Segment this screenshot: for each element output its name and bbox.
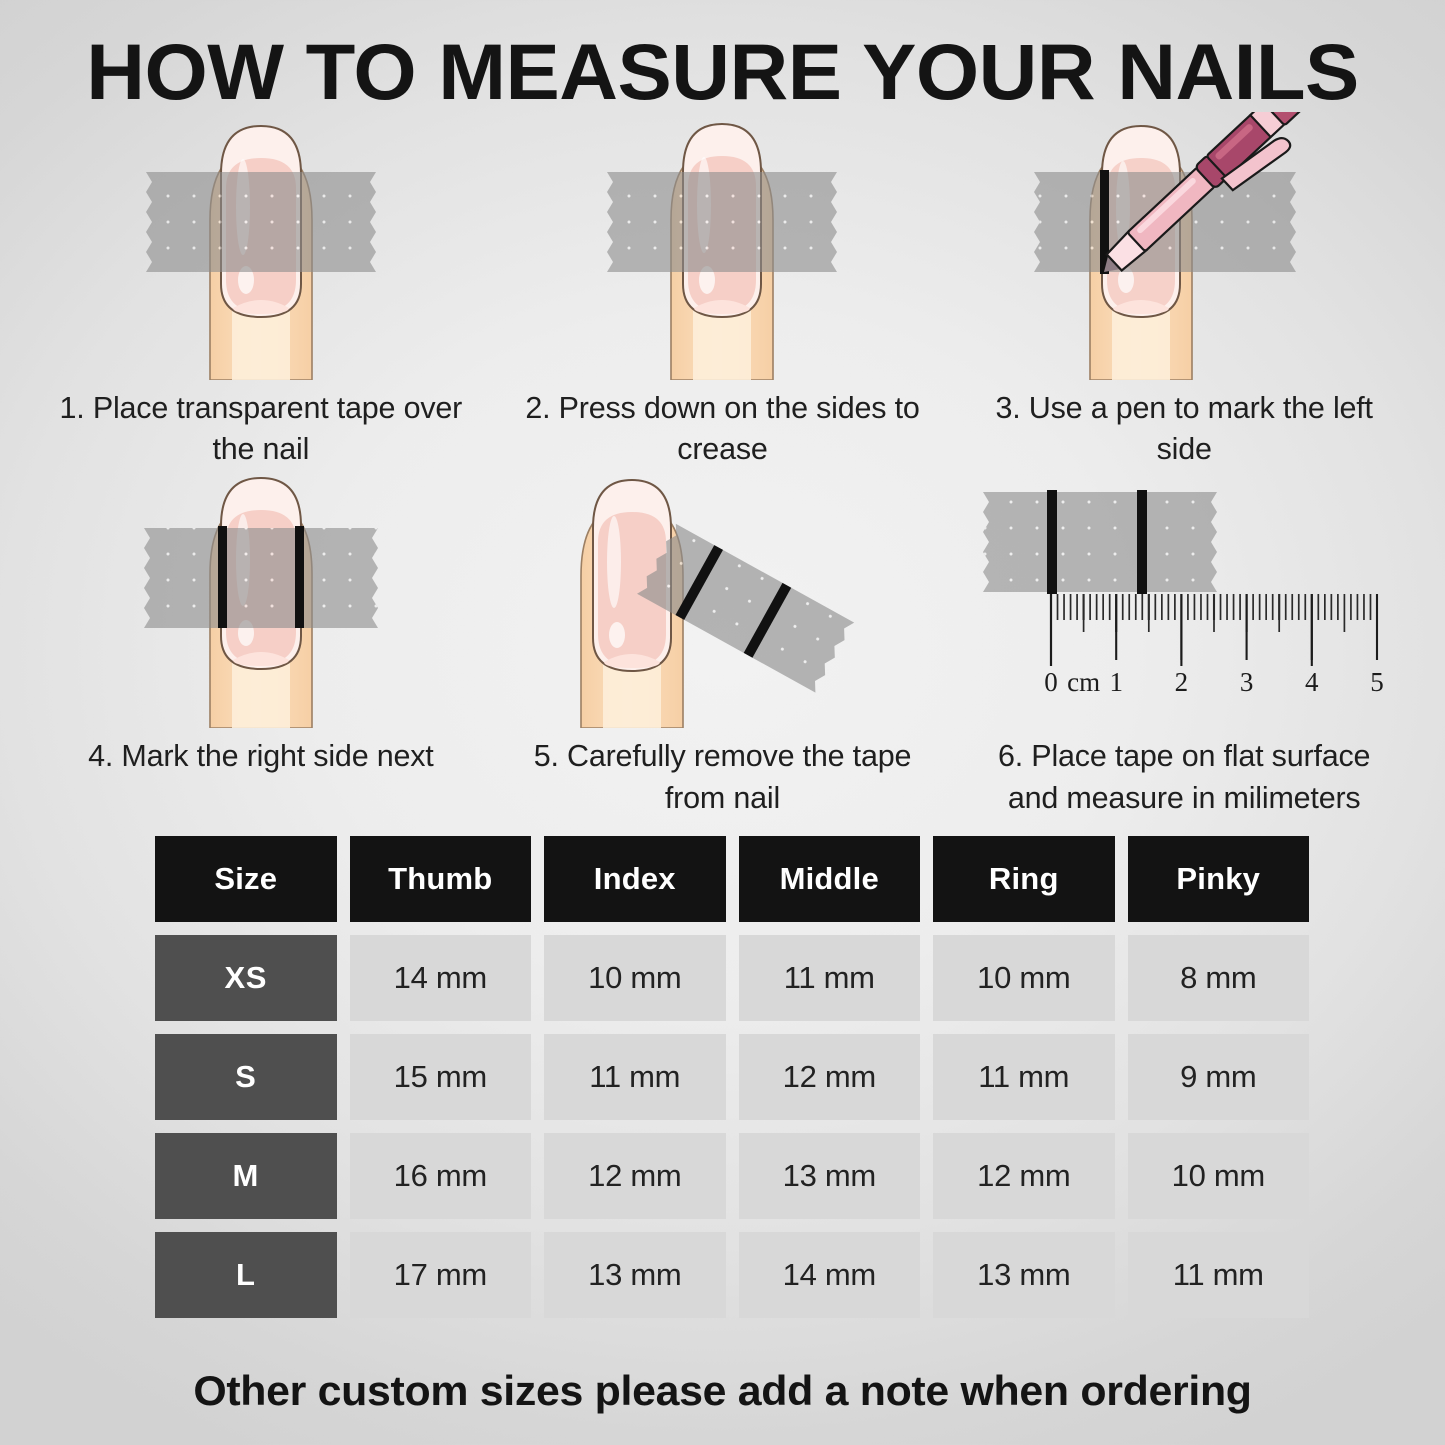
table-cell: 11 mm [1128,1232,1310,1318]
tape-on-ruler-icon: 0 cm 1 2 3 4 5 [953,470,1415,728]
step-6: 0 cm 1 2 3 4 5 6. Place tape on flat sur… [953,470,1415,818]
table-header-ring: Ring [933,836,1115,922]
table-row-size-label: M [155,1133,337,1219]
table-cell: 11 mm [933,1034,1115,1120]
steps-grid: 1. Place transparent tape over the nail [30,112,1415,819]
table-cell: 10 mm [1128,1133,1310,1219]
step-2: 2. Press down on the sides to crease [492,112,954,470]
table-cell: 11 mm [544,1034,726,1120]
step-1-caption: 1. Place transparent tape over the nail [46,388,476,470]
table-cell: 10 mm [544,935,726,1021]
table-row-size-label: XS [155,935,337,1021]
finger-with-pen-marking-icon [953,112,1415,380]
table-cell: 12 mm [739,1034,921,1120]
ruler-label-2: 2 [1175,667,1189,697]
finger-with-tape-icon [30,112,492,380]
table-row-size-label: L [155,1232,337,1318]
table-cell: 16 mm [350,1133,532,1219]
table-cell: 14 mm [739,1232,921,1318]
step-6-caption: 6. Place tape on flat surface and measur… [969,736,1399,818]
custom-sizes-note: Other custom sizes please add a note whe… [0,1367,1445,1415]
ruler-label-5: 5 [1370,667,1384,697]
table-header-index: Index [544,836,726,922]
ruler-label-3: 3 [1240,667,1254,697]
table-header-size: Size [155,836,337,922]
table-cell: 8 mm [1128,935,1310,1021]
step-5-caption: 5. Carefully remove the tape from nail [507,736,937,818]
step-4-caption: 4. Mark the right side next [88,736,434,777]
size-chart-table: Size Thumb Index Middle Ring Pinky XS 14… [155,836,1309,1318]
table-cell: 13 mm [739,1133,921,1219]
table-cell: 13 mm [933,1232,1115,1318]
table-cell: 15 mm [350,1034,532,1120]
table-cell: 12 mm [933,1133,1115,1219]
page-title: HOW TO MEASURE YOUR NAILS [0,26,1445,118]
step-1: 1. Place transparent tape over the nail [30,112,492,470]
table-cell: 9 mm [1128,1034,1310,1120]
step-3: 3. Use a pen to mark the left side [953,112,1415,470]
ruler-label-1: 1 [1110,667,1124,697]
ruler-label-4: 4 [1305,667,1319,697]
ruler-label-0: 0 [1044,667,1058,697]
step-5: 5. Carefully remove the tape from nail [492,470,954,818]
finger-with-tape-creased-icon [492,112,954,380]
table-cell: 14 mm [350,935,532,1021]
table-cell: 12 mm [544,1133,726,1219]
table-cell: 11 mm [739,935,921,1021]
finger-with-two-marks-icon [30,470,492,728]
table-cell: 13 mm [544,1232,726,1318]
table-cell: 17 mm [350,1232,532,1318]
table-row-size-label: S [155,1034,337,1120]
step-2-caption: 2. Press down on the sides to crease [507,388,937,470]
ruler-unit: cm [1067,667,1100,697]
table-header-thumb: Thumb [350,836,532,922]
table-header-middle: Middle [739,836,921,922]
step-4: 4. Mark the right side next [30,470,492,818]
table-header-pinky: Pinky [1128,836,1310,922]
table-cell: 10 mm [933,935,1115,1021]
tape-peeled-from-nail-icon [492,470,954,728]
step-3-caption: 3. Use a pen to mark the left side [969,388,1399,470]
